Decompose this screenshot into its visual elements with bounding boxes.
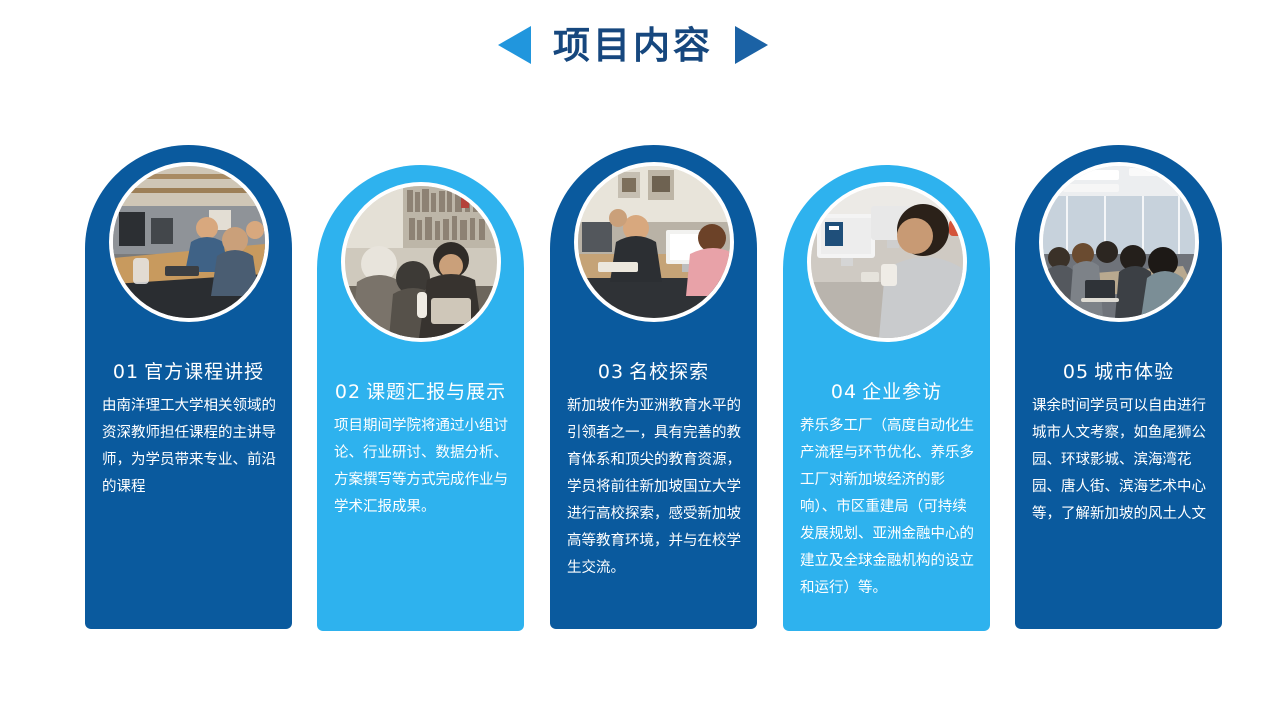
card-photo-frame bbox=[574, 162, 734, 322]
content-card-01[interactable]: 01官方课程讲授 由南洋理工大学相关领域的资深教师担任课程的主讲导师，为学员带来… bbox=[85, 145, 292, 629]
card-body-text: 养乐多工厂（高度自动化生产流程与环节优化、养乐多工厂对新加坡经济的影响）、市区重… bbox=[800, 413, 977, 602]
card-title: 02课题汇报与展示 bbox=[317, 377, 524, 404]
card-photo-frame bbox=[1039, 162, 1199, 322]
card-title-text: 企业参访 bbox=[862, 381, 942, 403]
card-title: 05城市体验 bbox=[1015, 357, 1222, 384]
content-card-02[interactable]: 02课题汇报与展示 项目期间学院将通过小组讨论、行业研讨、数据分析、方案撰写等方… bbox=[317, 165, 524, 631]
card-number: 04 bbox=[831, 381, 857, 403]
triangle-left-icon bbox=[498, 26, 531, 64]
card-title: 01官方课程讲授 bbox=[85, 357, 292, 384]
page-title-text: 项目内容 bbox=[553, 27, 713, 64]
card-title-text: 课题汇报与展示 bbox=[366, 381, 506, 403]
content-card-05[interactable]: 05城市体验 课余时间学员可以自由进行城市人文考察，如鱼尾狮公园、环球影城、滨海… bbox=[1015, 145, 1222, 629]
students-library-photo bbox=[345, 186, 497, 338]
content-card-03[interactable]: 03名校探索 新加坡作为亚洲教育水平的引领者之一，具有完善的教育体系和顶尖的教育… bbox=[550, 145, 757, 629]
card-body-text: 项目期间学院将通过小组讨论、行业研讨、数据分析、方案撰写等方式完成作业与学术汇报… bbox=[334, 413, 511, 521]
content-cards-row: 01官方课程讲授 由南洋理工大学相关领域的资深教师担任课程的主讲导师，为学员带来… bbox=[85, 145, 1185, 645]
card-number: 03 bbox=[598, 361, 624, 383]
card-photo-frame bbox=[109, 162, 269, 322]
card-title: 04企业参访 bbox=[783, 377, 990, 404]
card-body-text: 新加坡作为亚洲教育水平的引领者之一，具有完善的教育体系和顶尖的教育资源，学员将前… bbox=[567, 393, 744, 582]
card-title: 03名校探索 bbox=[550, 357, 757, 384]
card-title-text: 城市体验 bbox=[1094, 361, 1174, 383]
office-meeting-photo bbox=[113, 166, 265, 318]
card-photo-frame bbox=[341, 182, 501, 342]
conference-room-photo bbox=[1043, 166, 1195, 318]
card-number: 02 bbox=[335, 381, 361, 403]
card-title-text: 官方课程讲授 bbox=[144, 361, 264, 383]
card-title-text: 名校探索 bbox=[629, 361, 709, 383]
card-number: 05 bbox=[1063, 361, 1089, 383]
page-title: 项目内容 bbox=[0, 26, 1266, 64]
content-card-04[interactable]: 04企业参访 养乐多工厂（高度自动化生产流程与环节优化、养乐多工厂对新加坡经济的… bbox=[783, 165, 990, 631]
card-photo-frame bbox=[807, 182, 967, 342]
triangle-right-icon bbox=[735, 26, 768, 64]
man-at-computer-photo bbox=[811, 186, 963, 338]
card-body-text: 课余时间学员可以自由进行城市人文考察，如鱼尾狮公园、环球影城、滨海湾花园、唐人街… bbox=[1032, 393, 1209, 528]
card-body-text: 由南洋理工大学相关领域的资深教师担任课程的主讲导师，为学员带来专业、前沿的课程 bbox=[102, 393, 279, 501]
card-number: 01 bbox=[113, 361, 139, 383]
open-office-desks-photo bbox=[578, 166, 730, 318]
